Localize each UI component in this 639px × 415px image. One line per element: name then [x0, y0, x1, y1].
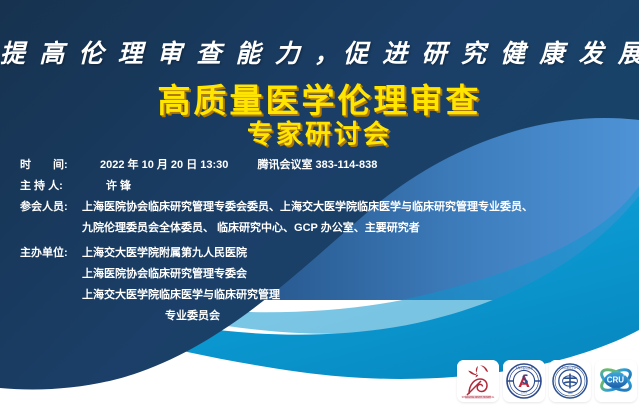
svg-text:SHANGHAI NINTH HOSPITAL: SHANGHAI NINTH HOSPITAL	[462, 396, 495, 399]
organizer-line-4-row: 专业委员会	[20, 306, 630, 327]
logo-strip: SHANGHAI NINTH HOSPITAL 上海市医院协会	[457, 360, 637, 402]
svg-text:上海市医院协会: 上海市医院协会	[515, 366, 534, 370]
host-value: 许 锋	[106, 180, 131, 192]
time-label: 时 间:	[20, 155, 82, 176]
poster-canvas: 提 高 伦 理 审 查 能 力 ，促 进 研 究 健 康 发 展 高质量医学伦理…	[0, 0, 639, 415]
organizer-line-2-row: 上海医院协会临床研究管理专委会	[20, 264, 630, 285]
title-sub: 专家研讨会	[0, 114, 639, 151]
cru-logo: CRU ®	[595, 360, 637, 402]
time-value-wrap: 2022 年 10 月 20 日 13:30 腾讯会议室 383-114-838	[82, 155, 630, 176]
attendees-line-1: 上海医院协会临床研究管理专委会委员、上海交大医学院临床医学与临床研究管理专业委员…	[82, 197, 630, 218]
attendees-label: 参会人员:	[20, 197, 82, 218]
svg-text:上海交通大学医学院: 上海交通大学医学院	[559, 366, 582, 370]
attendees-line-2-row: 九院伦理委员会全体委员、 临床研究中心、GCP 办公室、主要研究者	[20, 218, 630, 239]
svg-text:®: ®	[623, 372, 626, 377]
organizer-line-2: 上海医院协会临床研究管理专委会	[82, 268, 247, 280]
attendees-line-2: 九院伦理委员会全体委员、 临床研究中心、GCP 办公室、主要研究者	[82, 222, 420, 234]
shanghai-hospital-association-logo: 上海市医院协会 S H A	[503, 360, 545, 402]
organizer-line-1: 上海交大医学院附属第九人民医院	[82, 243, 630, 264]
meeting-room-value: 腾讯会议室 383-114-838	[257, 159, 377, 171]
organizer-line-3: 上海交大医学院临床医学与临床研究管理	[82, 289, 280, 301]
tagline: 提 高 伦 理 审 查 能 力 ，促 进 研 究 健 康 发 展	[0, 34, 639, 70]
svg-text:CRU: CRU	[607, 376, 625, 385]
time-value: 2022 年 10 月 20 日 13:30	[100, 159, 228, 171]
shanghai-jiaotong-medical-school-logo: 上海交通大学医学院 1896	[549, 360, 591, 402]
host-label: 主 持 人:	[20, 176, 82, 197]
host-value-wrap: 许 锋	[82, 176, 630, 197]
ninth-peoples-hospital-logo: SHANGHAI NINTH HOSPITAL	[457, 360, 499, 402]
svg-text:S H A: S H A	[521, 391, 527, 394]
organizer-line-3-row: 上海交大医学院临床医学与临床研究管理	[20, 285, 630, 306]
info-block: 时 间: 2022 年 10 月 20 日 13:30 腾讯会议室 383-11…	[20, 155, 630, 327]
info-row-attendees: 参会人员: 上海医院协会临床研究管理专委会委员、上海交大医学院临床医学与临床研究…	[20, 197, 630, 218]
info-row-host: 主 持 人: 许 锋	[20, 176, 630, 197]
info-row-organizer: 主办单位: 上海交大医学院附属第九人民医院	[20, 243, 630, 264]
info-row-time: 时 间: 2022 年 10 月 20 日 13:30 腾讯会议室 383-11…	[20, 155, 630, 176]
organizer-label: 主办单位:	[20, 243, 82, 264]
organizer-line-4: 专业委员会	[165, 310, 220, 322]
svg-text:1896: 1896	[568, 393, 574, 395]
